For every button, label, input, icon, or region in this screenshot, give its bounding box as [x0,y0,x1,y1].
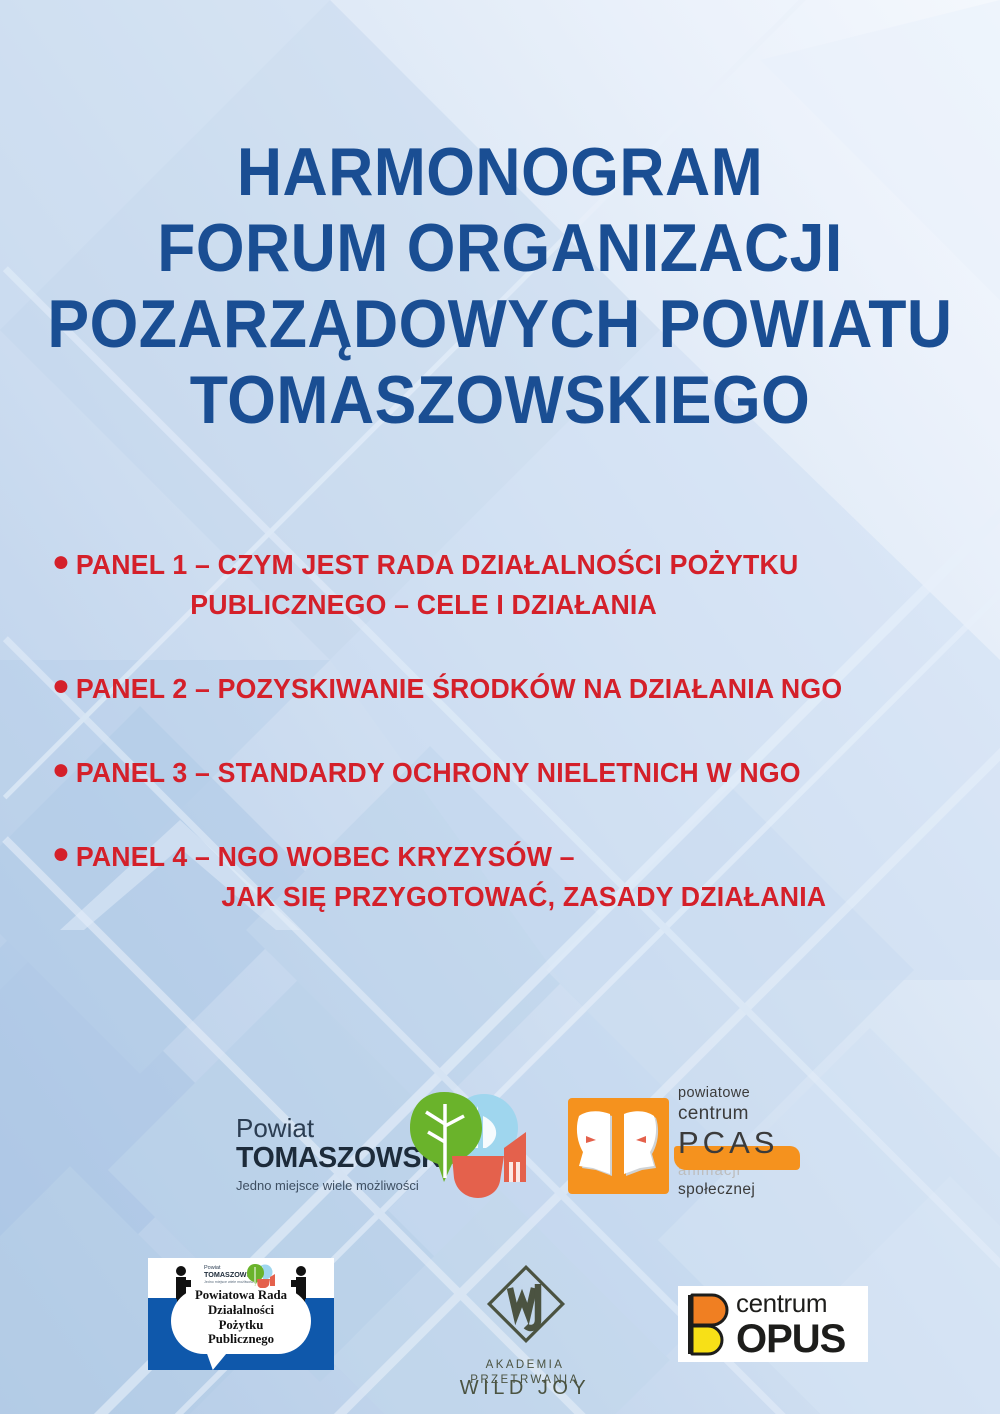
prdpp-mini-powiat-logo: Powiat TOMASZOWSKI Jedno miejsce wiele m… [204,1263,278,1289]
pcas-acronym: PCAS [678,1125,778,1160]
prdpp-line-4: Publicznego [171,1332,311,1347]
panel-item-1: ● PANEL 1 – CZYM JEST RADA DZIAŁALNOŚCI … [0,545,1000,625]
logo-row-bottom: Powiat TOMASZOWSKI Jedno miejsce wiele m… [0,1252,1000,1412]
pcas-line-4: społecznej [678,1180,803,1199]
panel-text-4: PANEL 4 – NGO WOBEC KRYZYSÓW – JAK SIĘ P… [70,837,826,917]
title-line-3: POZARZĄDOWYCH POWIATU [40,286,960,362]
panel-1-line-2: PUBLICZNEGO – CELE I DZIAŁANIA [190,585,798,625]
opus-circle-segments-icon [686,1292,732,1356]
opus-line-1: centrum [736,1288,866,1318]
wild-joy-name: WILD JOY [440,1376,610,1400]
panel-item-2: ● PANEL 2 – POZYSKIWANIE ŚRODKÓW NA DZIA… [0,669,1000,709]
prdpp-line-1: Powiatowa Rada [171,1288,311,1303]
panel-text-3: PANEL 3 – STANDARDY OCHRONY NIELETNICH W… [70,753,801,793]
two-faces-orange-square-icon [566,1096,671,1196]
prdpp-speech-bubble: Powiatowa Rada Działalności Pożytku Publ… [171,1288,311,1354]
panel-3-line-1: PANEL 3 – STANDARDY OCHRONY NIELETNICH W… [76,753,801,793]
logo-centrum-opus: centrum OPUS [678,1286,868,1362]
panel-bullet-icon: ● [32,753,70,787]
pcas-line-2: centrum [678,1103,803,1125]
panel-item-3: ● PANEL 3 – STANDARDY OCHRONY NIELETNICH… [0,753,1000,793]
prdpp-text-block: Powiatowa Rada Działalności Pożytku Publ… [171,1288,311,1347]
prdpp-line-3: Pożytku [171,1318,311,1333]
logo-wild-joy: AKADEMIA PRZETRWANIA WILD JOY [440,1264,610,1404]
opus-wordmark: centrum OPUS [736,1288,866,1360]
leaf-sail-building-icon [408,1086,528,1201]
panel-bullet-icon: ● [32,545,70,579]
panel-text-1: PANEL 1 – CZYM JEST RADA DZIAŁALNOŚCI PO… [70,545,798,625]
panel-item-4: ● PANEL 4 – NGO WOBEC KRYZYSÓW – JAK SIĘ… [0,837,1000,917]
panel-2-line-1: PANEL 2 – POZYSKIWANIE ŚRODKÓW NA DZIAŁA… [76,669,842,709]
title-line-4: TOMASZOWSKIEGO [40,362,960,438]
title-line-1: HARMONOGRAM [40,134,960,210]
panel-bullet-icon: ● [32,837,70,871]
panel-bullet-icon: ● [32,669,70,703]
logo-powiatowa-rada: Powiat TOMASZOWSKI Jedno miejsce wiele m… [148,1258,334,1370]
panel-list: ● PANEL 1 – CZYM JEST RADA DZIAŁALNOŚCI … [0,545,1000,961]
panel-1-line-1: PANEL 1 – CZYM JEST RADA DZIAŁALNOŚCI PO… [76,545,799,585]
opus-line-2: OPUS [736,1318,866,1360]
prdpp-mini-icon [246,1263,276,1289]
prdpp-line-2: Działalności [171,1303,311,1318]
powiat-tagline: Jedno miejsce wiele możliwości [236,1177,421,1195]
pcas-wordmark: powiatowe centrum PCAS animacji społeczn… [678,1084,803,1199]
powiat-line-1: Powiat [236,1114,421,1142]
title-line-2: FORUM ORGANIZACJI [40,210,960,286]
logo-row-top: Powiat TOMASZOWSKI Jedno miejsce wiele m… [0,1078,1000,1213]
panel-4-line-2: JAK SIĘ PRZYGOTOWAĆ, ZASADY DZIAŁANIA [221,877,826,917]
powiat-line-2: TOMASZOWSKI [236,1142,421,1174]
poster-canvas: HARMONOGRAM FORUM ORGANIZACJI POZARZĄDOW… [0,0,1000,1414]
pcas-line-1: powiatowe [678,1084,803,1103]
poster-title: HARMONOGRAM FORUM ORGANIZACJI POZARZĄDOW… [0,134,1000,438]
panel-text-2: PANEL 2 – POZYSKIWANIE ŚRODKÓW NA DZIAŁA… [70,669,842,709]
wild-joy-monogram-icon [486,1264,566,1344]
pcas-acronym-wrap: PCAS [678,1140,778,1157]
panel-4-line-1: PANEL 4 – NGO WOBEC KRYZYSÓW – [76,837,826,877]
logo-powiat-tomaszowski: Powiat TOMASZOWSKI Jedno miejsce wiele m… [236,1086,486,1206]
logo-pcas: powiatowe centrum PCAS animacji społeczn… [566,1084,796,1209]
powiat-wordmark: Powiat TOMASZOWSKI Jedno miejsce wiele m… [236,1114,421,1195]
